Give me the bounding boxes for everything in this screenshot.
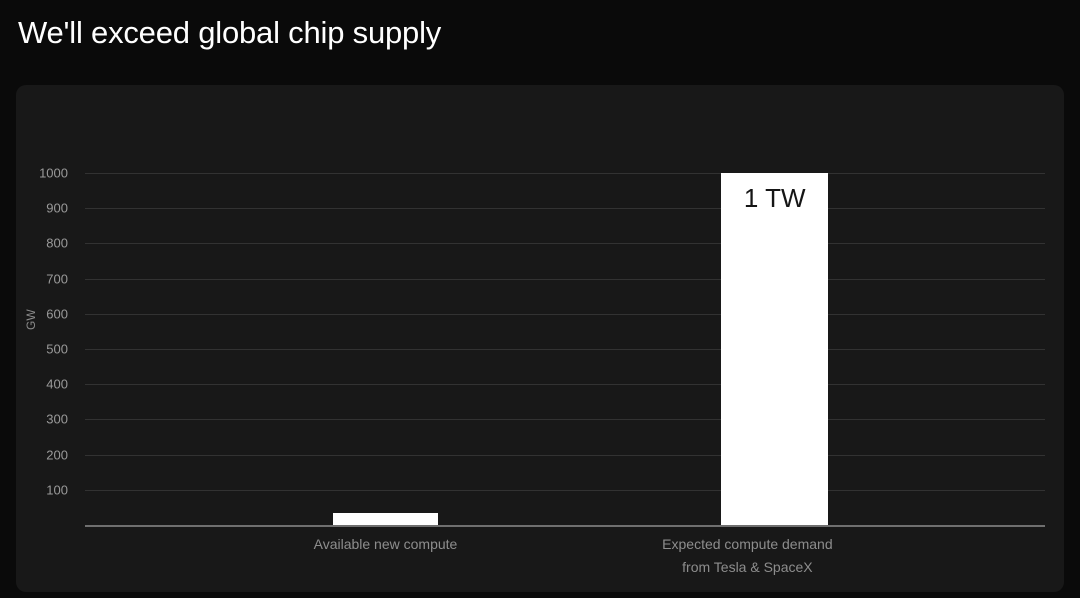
y-tick-label: 700: [46, 272, 68, 285]
y-tick-label: 1000: [39, 167, 68, 180]
y-tick-label: 500: [46, 343, 68, 356]
gridline: [85, 208, 1045, 209]
x-label-line: from Tesla & SpaceX: [662, 556, 832, 579]
chart-panel: GW 1000 900 800 700 600 500 400 300 200 …: [16, 85, 1064, 592]
bar-expected-compute-demand[interactable]: 1 TW: [721, 173, 828, 525]
gridline: [85, 349, 1045, 350]
x-axis-baseline: [85, 525, 1045, 527]
gridline: [85, 490, 1045, 491]
gridline: [85, 173, 1045, 174]
y-tick-label: 900: [46, 202, 68, 215]
gridline: [85, 419, 1045, 420]
y-tick-label: 100: [46, 483, 68, 496]
plot-area: 1 TW: [85, 173, 1045, 525]
gridline: [85, 279, 1045, 280]
x-label-line: Available new compute: [314, 533, 458, 556]
x-label-line: Expected compute demand: [662, 533, 832, 556]
y-tick-label: 300: [46, 413, 68, 426]
slide-root: We'll exceed global chip supply GW 1000 …: [0, 0, 1080, 598]
y-axis-ticks: 1000 900 800 700 600 500 400 300 200 100: [16, 173, 76, 525]
bar-value-label: 1 TW: [721, 183, 828, 213]
x-label-available-new-compute: Available new compute: [314, 533, 458, 556]
y-tick-label: 800: [46, 237, 68, 250]
gridline: [85, 455, 1045, 456]
x-axis-labels: Available new compute Expected compute d…: [85, 533, 1045, 589]
gridline: [85, 384, 1045, 385]
gridline: [85, 314, 1045, 315]
bar-available-new-compute[interactable]: [333, 513, 439, 525]
y-tick-label: 400: [46, 378, 68, 391]
x-label-expected-compute-demand: Expected compute demand from Tesla & Spa…: [662, 533, 832, 579]
y-tick-label: 600: [46, 307, 68, 320]
page-title: We'll exceed global chip supply: [18, 14, 441, 52]
y-tick-label: 200: [46, 448, 68, 461]
gridline: [85, 243, 1045, 244]
